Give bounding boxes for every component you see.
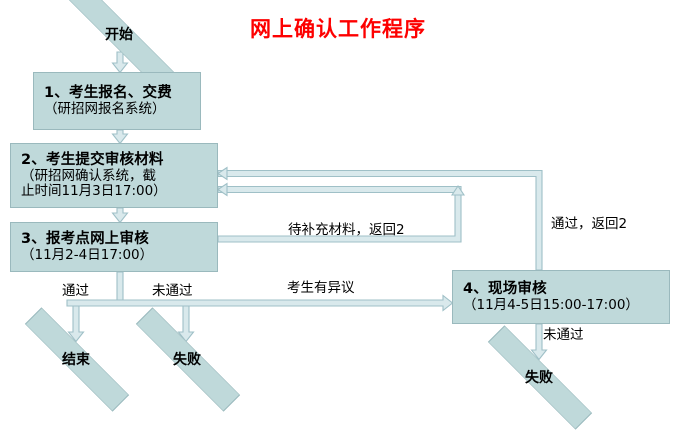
connector-step4-pass-return2 <box>218 171 542 271</box>
arrowhead-supplement-into-step2 <box>218 184 227 196</box>
connector-objection-to-step4 <box>67 296 453 311</box>
node-step1-line1: 1、考生报名、交费 <box>44 85 172 101</box>
node-end-ok[interactable]: 结束 <box>15 337 137 380</box>
edge-label-not-pass-right: 未通过 <box>543 329 584 343</box>
node-step1[interactable]: 1、考生报名、交费 （研招网报名系统） <box>33 72 201 130</box>
connector-step2-to-step3 <box>113 208 128 223</box>
page-title: 网上确认工作程序 <box>250 13 426 43</box>
node-step2[interactable]: 2、考生提交审核材料 （研招网确认系统，截 止时间11月3日17:00） <box>10 143 218 208</box>
node-step2-line1: 2、考生提交审核材料 <box>21 152 164 168</box>
connector-step1-to-step2 <box>113 130 128 144</box>
node-step3-line2: （11月2-4日17:00） <box>21 248 153 263</box>
edge-label-not-pass-left: 未通过 <box>152 285 193 299</box>
node-step2-line2: （研招网确认系统，截 <box>21 169 156 184</box>
node-fail-right[interactable]: 失败 <box>478 355 600 398</box>
node-fail-right-label: 失败 <box>525 367 553 387</box>
connector-step3-bottom-bus <box>117 272 123 300</box>
node-fail-left-label: 失败 <box>173 349 201 369</box>
arrowhead-pass-into-step2 <box>218 168 227 180</box>
node-step2-line3: 止时间11月3日17:00） <box>21 184 167 199</box>
node-step4-line1: 4、现场审核 <box>463 281 547 297</box>
node-step1-line2: （研招网报名系统） <box>44 102 166 117</box>
edge-label-candidate-objection: 考生有异议 <box>287 282 355 296</box>
node-fail-left[interactable]: 失败 <box>126 337 248 380</box>
node-step3-line1: 3、报考点网上审核 <box>21 231 149 247</box>
node-start[interactable]: 开始 <box>55 12 183 55</box>
node-step4-line2: （11月4-5日15:00-17:00） <box>463 298 639 313</box>
edge-label-supplement-return2: 待补充材料，返回2 <box>288 224 405 238</box>
edge-label-pass-return2: 通过，返回2 <box>551 218 627 232</box>
node-end-ok-label: 结束 <box>62 349 90 369</box>
node-step3[interactable]: 3、报考点网上审核 （11月2-4日17:00） <box>10 222 218 272</box>
edge-label-pass-left: 通过 <box>62 285 89 299</box>
node-step4[interactable]: 4、现场审核 （11月4-5日15:00-17:00） <box>452 270 670 324</box>
node-start-label: 开始 <box>105 24 133 44</box>
flowchart-canvas: .conn{fill:#d9e9ec;stroke:#9fc0c7;stroke… <box>0 0 692 417</box>
